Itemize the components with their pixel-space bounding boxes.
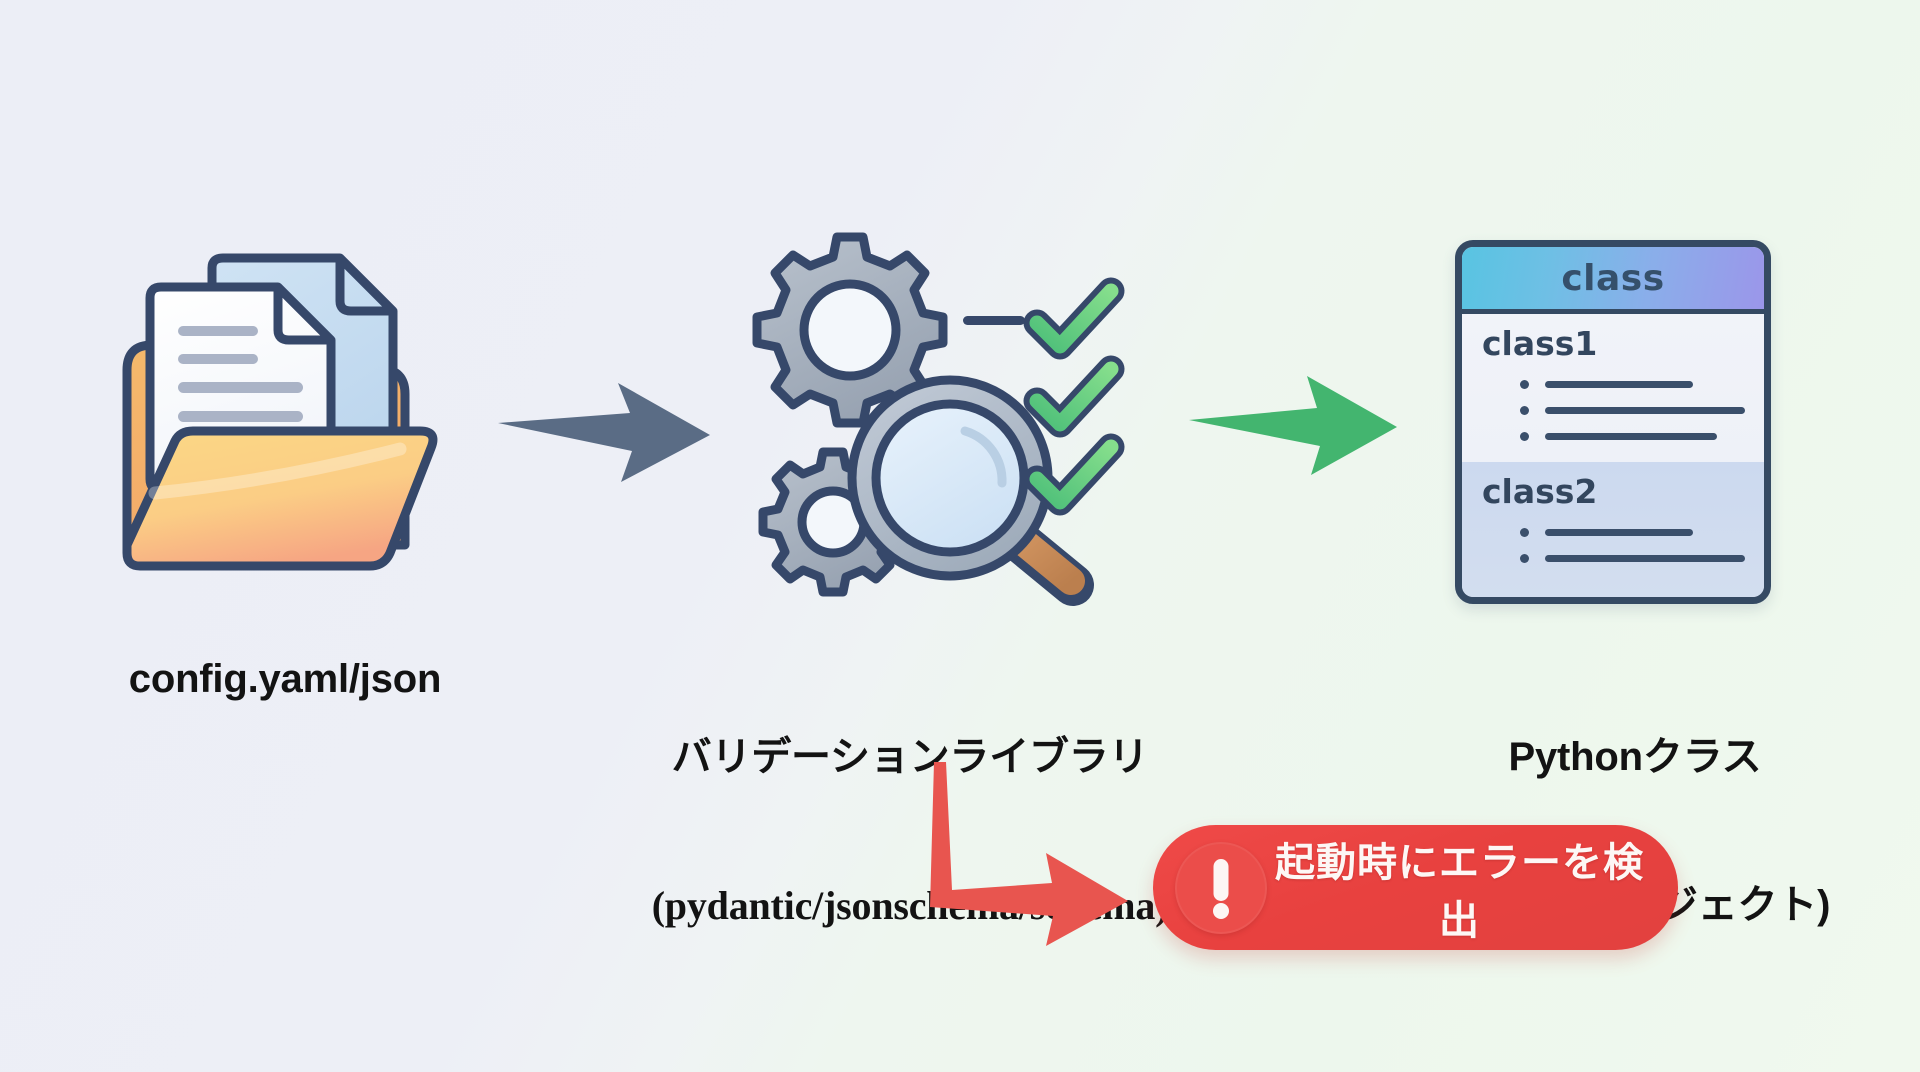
diagram-canvas: config.yaml/json (0, 0, 1920, 1072)
class-section-title: class1 (1482, 324, 1764, 363)
label-source: config.yaml/json (0, 655, 570, 704)
arrow-source-to-validator (490, 380, 730, 510)
bullet-dot-icon (1520, 528, 1529, 537)
node-validator (755, 225, 1125, 595)
bullet-dot-icon (1520, 554, 1529, 563)
row-bar (1545, 381, 1693, 388)
dash-connector-icon (963, 316, 1025, 325)
arrow-validator-to-output (1185, 372, 1415, 502)
exclamation-circle-icon (1175, 842, 1267, 934)
class-row-list (1482, 519, 1764, 571)
bullet-dot-icon (1520, 432, 1529, 441)
class-row (1520, 397, 1764, 423)
class-section-title: class2 (1482, 472, 1764, 511)
check-icon-2 (1037, 369, 1111, 424)
check-icon-1 (1037, 291, 1111, 346)
node-source-folder (100, 235, 460, 620)
class-row (1520, 423, 1764, 449)
arrow-right-icon (1185, 372, 1415, 502)
arrow-right-icon (490, 380, 730, 510)
arrow-validator-to-error (900, 750, 1200, 950)
error-badge[interactable]: 起動時にエラーを検出 (1153, 825, 1678, 950)
row-bar (1545, 555, 1745, 562)
bullet-dot-icon (1520, 406, 1529, 415)
row-bar (1545, 433, 1717, 440)
label-output-line1: Pythonクラス (1350, 733, 1920, 782)
arrow-elbow-down-right-icon (900, 750, 1200, 950)
folder-with-documents-icon (100, 235, 460, 620)
class-row (1520, 371, 1764, 397)
class-row-list (1482, 371, 1764, 449)
exclamation-dot (1213, 903, 1229, 919)
class-row (1520, 519, 1764, 545)
class-row (1520, 545, 1764, 571)
class-card: class class1 class2 (1455, 240, 1771, 604)
exclamation-stem (1214, 859, 1229, 901)
class-section-class1: class1 (1462, 314, 1764, 462)
class-section-class2: class2 (1462, 462, 1764, 604)
gears-magnifier-checks-icon (755, 225, 1125, 595)
bullet-dot-icon (1520, 380, 1529, 389)
row-bar (1545, 407, 1745, 414)
class-card-header: class (1462, 247, 1764, 314)
error-badge-label: 起動時にエラーを検出 (1267, 830, 1678, 946)
row-bar (1545, 529, 1693, 536)
